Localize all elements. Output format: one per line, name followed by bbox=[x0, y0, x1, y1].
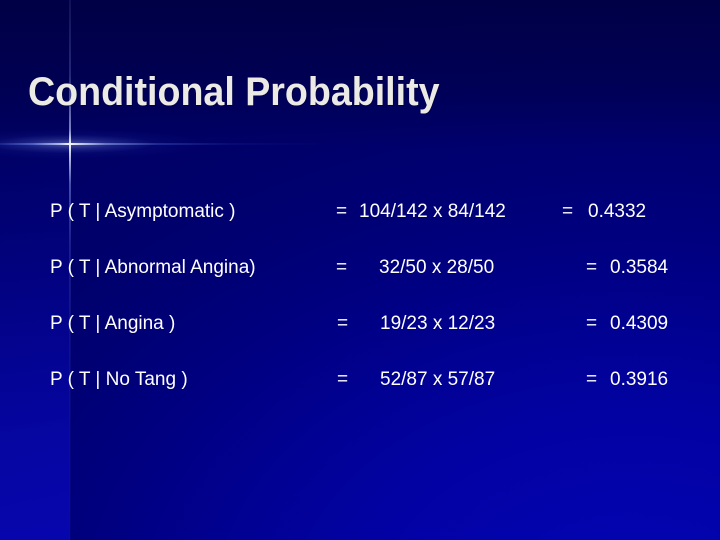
equation-equals-2: = bbox=[586, 296, 597, 352]
equation-equals-2: = bbox=[586, 352, 597, 408]
equation-result: 0.4309 bbox=[610, 296, 668, 352]
equation-expression: 19/23 x 12/23 bbox=[380, 296, 495, 352]
equation-expression: 32/50 x 28/50 bbox=[379, 240, 494, 296]
crosshair-horizontal-line bbox=[0, 143, 330, 145]
equation-row: P ( T | Abnormal Angina) = 32/50 x 28/50… bbox=[0, 240, 720, 296]
equation-row: P ( T | Asymptomatic ) = 104/142 x 84/14… bbox=[0, 184, 720, 240]
equation-equals-2: = bbox=[586, 240, 597, 296]
equation-equals-1: = bbox=[336, 184, 347, 240]
equation-result: 0.4332 bbox=[588, 184, 646, 240]
equation-expression: 104/142 x 84/142 bbox=[359, 184, 506, 240]
equation-result: 0.3916 bbox=[610, 352, 668, 408]
equation-label: P ( T | Angina ) bbox=[50, 296, 175, 352]
equation-result: 0.3584 bbox=[610, 240, 668, 296]
equation-label: P ( T | No Tang ) bbox=[50, 352, 188, 408]
presentation-slide: Conditional Probability P ( T | Asymptom… bbox=[0, 0, 720, 540]
equation-label: P ( T | Asymptomatic ) bbox=[50, 184, 236, 240]
slide-title: Conditional Probability bbox=[28, 68, 440, 116]
equation-list: P ( T | Asymptomatic ) = 104/142 x 84/14… bbox=[0, 184, 720, 408]
equation-row: P ( T | No Tang ) = 52/87 x 57/87 = 0.39… bbox=[0, 352, 720, 408]
equation-equals-1: = bbox=[337, 352, 348, 408]
equation-equals-1: = bbox=[337, 296, 348, 352]
equation-expression: 52/87 x 57/87 bbox=[380, 352, 495, 408]
equation-equals-2: = bbox=[562, 184, 573, 240]
equation-label: P ( T | Abnormal Angina) bbox=[50, 240, 256, 296]
equation-equals-1: = bbox=[336, 240, 347, 296]
equation-row: P ( T | Angina ) = 19/23 x 12/23 = 0.430… bbox=[0, 296, 720, 352]
